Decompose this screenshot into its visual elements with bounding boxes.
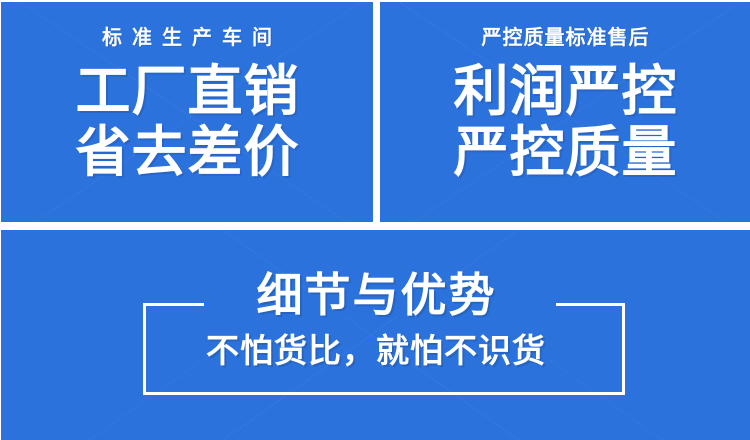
panel-left-content: 标准生产车间 工厂直销 省去差价 — [1, 2, 373, 222]
headline-profit-control-line2: 严控质量 — [452, 123, 677, 182]
eyebrow-standard-workshop: 标准生产车间 — [92, 28, 282, 48]
panel-details-advantages: 细节与优势 不怕货比，就怕不识货 — [1, 230, 750, 440]
eyebrow-strict-quality-aftersales: 严控质量标准售后 — [481, 28, 650, 48]
section-title-details-advantages: 细节与优势 — [1, 272, 750, 318]
panel-right-content: 严控质量标准售后 利润严控 严控质量 — [380, 2, 750, 222]
headline-profit-control-line1: 利润严控 — [452, 62, 677, 121]
panel-factory-direct: 标准生产车间 工厂直销 省去差价 — [1, 2, 373, 222]
headline-factory-direct-line1: 工厂直销 — [74, 62, 299, 121]
panel-quality-control: 严控质量标准售后 利润严控 严控质量 — [380, 2, 750, 222]
promo-banner: 标准生产车间 工厂直销 省去差价 严控质量标准售后 利润严控 严控质量 细节与优… — [0, 0, 750, 440]
section-subtitle-compare-goods: 不怕货比，就怕不识货 — [1, 334, 750, 367]
headline-factory-direct-line2: 省去差价 — [74, 123, 299, 182]
